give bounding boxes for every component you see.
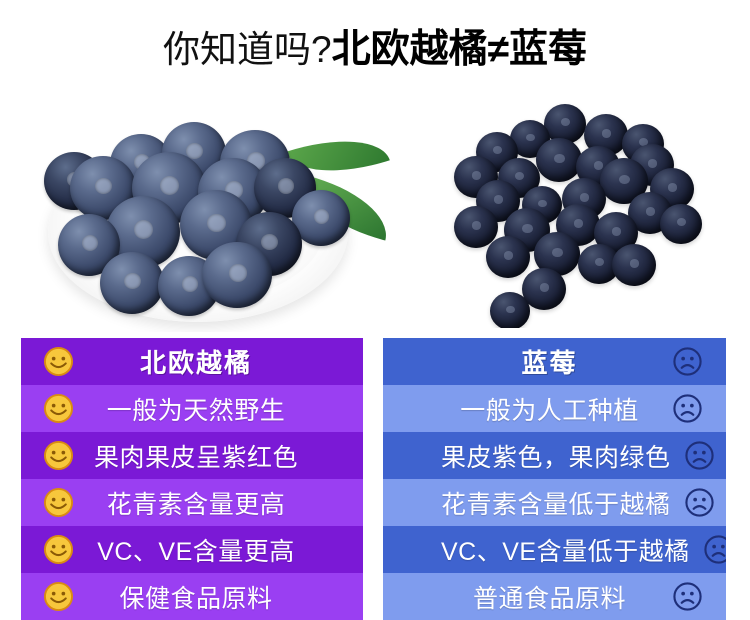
sad-face-icon [658, 393, 716, 424]
sad-face-icon [690, 534, 726, 565]
blueberry-photo [424, 96, 744, 328]
smiley-face-icon [29, 534, 87, 565]
berry [100, 252, 164, 314]
berry [536, 138, 582, 182]
table-row: 一般为天然野生 [21, 385, 363, 432]
table-cell-label: 果皮紫色，果肉绿色 [441, 438, 671, 474]
berry [486, 236, 530, 278]
title-lead-text: 你知道吗? [163, 19, 332, 73]
page-title: 你知道吗? 北欧越橘≠蓝莓 [0, 0, 750, 92]
blueberry-table: 蓝莓 一般为人工种植 [383, 338, 726, 620]
berry [612, 244, 656, 286]
table-row: 花青素含量更高 [21, 479, 363, 526]
table-cell-label: 花青素含量低于越橘 [441, 485, 671, 521]
berry [490, 292, 530, 328]
smiley-face-icon [29, 487, 87, 518]
bilberry-table: 北欧越橘 一般为天然野生 [21, 338, 363, 620]
table-cell-label: 一般为天然野生 [87, 391, 305, 427]
bilberry-photo [14, 94, 404, 332]
table-row: VC、VE含量低于越橘 [383, 526, 726, 573]
smiley-face-icon [29, 393, 87, 424]
blueberry-header-label: 蓝莓 [441, 343, 658, 380]
bilberry-header-row: 北欧越橘 [21, 338, 363, 385]
table-row: 花青素含量低于越橘 [383, 479, 726, 526]
berry [202, 242, 272, 308]
table-row: VC、VE含量更高 [21, 526, 363, 573]
smiley-face-icon [29, 346, 87, 377]
table-row: 果肉果皮呈紫红色 [21, 432, 363, 479]
smiley-face-icon [29, 581, 87, 612]
table-cell-label: VC、VE含量更高 [87, 532, 305, 568]
bilberry-header-label: 北欧越橘 [87, 343, 305, 380]
sad-face-icon [658, 581, 716, 612]
sad-face-icon [671, 440, 726, 471]
table-cell-label: 果肉果皮呈紫红色 [87, 438, 305, 474]
infographic-page: 你知道吗? 北欧越橘≠蓝莓 [0, 0, 750, 620]
title-emphasis-text: 北欧越橘≠蓝莓 [332, 18, 587, 74]
table-row: 果皮紫色，果肉绿色 [383, 432, 726, 479]
table-cell-label: 普通食品原料 [441, 579, 658, 615]
comparison-tables: 北欧越橘 一般为天然野生 [0, 338, 750, 620]
table-row: 普通食品原料 [383, 573, 726, 620]
smiley-face-icon [29, 440, 87, 471]
table-cell-label: VC、VE含量低于越橘 [441, 532, 690, 568]
table-cell-label: 保健食品原料 [87, 579, 305, 615]
sad-face-icon [658, 346, 716, 377]
photo-row [0, 92, 750, 332]
table-cell-label: 花青素含量更高 [87, 485, 305, 521]
sad-face-icon [671, 487, 726, 518]
blueberry-header-row: 蓝莓 [383, 338, 726, 385]
table-row: 保健食品原料 [21, 573, 363, 620]
table-row: 一般为人工种植 [383, 385, 726, 432]
berry [660, 204, 702, 244]
table-cell-label: 一般为人工种植 [441, 391, 658, 427]
